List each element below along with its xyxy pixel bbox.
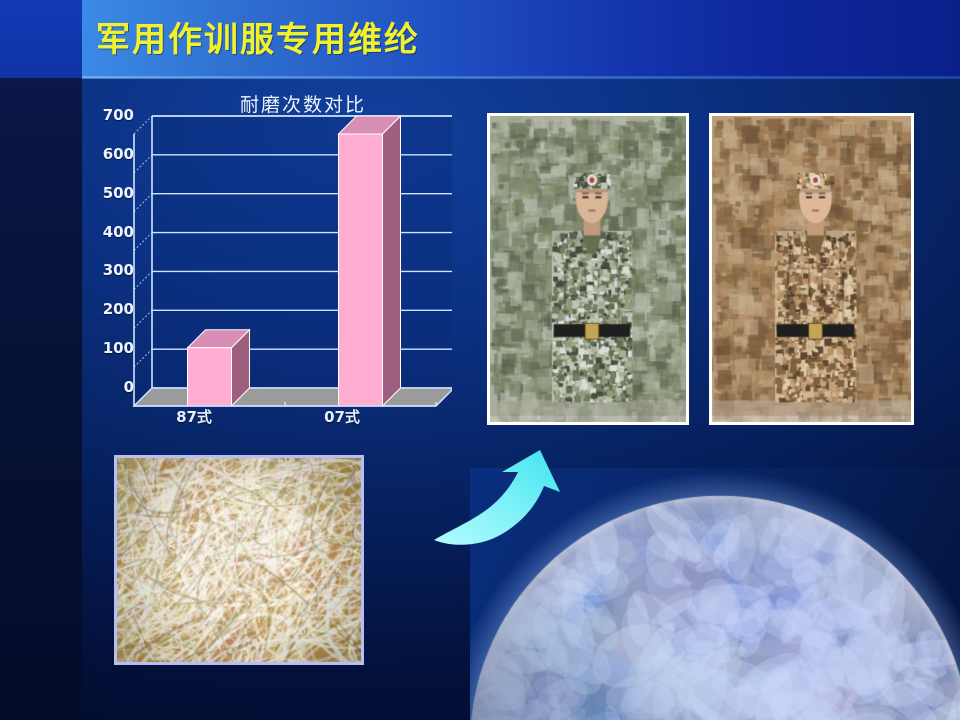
woodland-camo-canvas: [490, 116, 686, 422]
x-axis-label-1: 07式: [282, 406, 402, 427]
header-left-block: [0, 0, 82, 78]
y-tick-0: 0: [88, 378, 134, 396]
curved-up-arrow-icon: [428, 448, 578, 558]
slide-canvas: 军用作训服专用维纶 耐磨次数对比 0100200300400500600700 …: [0, 0, 960, 720]
y-axis-tick-labels: 0100200300400500600700: [92, 88, 134, 438]
chart-plot-area: [92, 88, 452, 438]
fiber-canvas: [117, 458, 361, 662]
slide-header-bar: 军用作训服专用维纶: [82, 0, 960, 78]
y-tick-300: 300: [88, 261, 134, 279]
arrow-shape: [434, 450, 560, 545]
left-accent-band: [0, 0, 82, 720]
y-tick-500: 500: [88, 184, 134, 202]
soldier-desert-camouflage-photo: [709, 113, 914, 425]
abrasion-chart: 耐磨次数对比 0100200300400500600700 87式 07式: [92, 88, 452, 438]
x-axis-label-0: 87式: [134, 406, 254, 427]
soldier-woodland-camouflage-photo: [487, 113, 689, 425]
header-underline: [82, 76, 960, 79]
y-tick-600: 600: [88, 145, 134, 163]
desert-camo-canvas: [712, 116, 911, 422]
y-tick-100: 100: [88, 339, 134, 357]
vinylon-fiber-photo: [114, 455, 364, 665]
page-title: 军用作训服专用维纶: [96, 12, 420, 61]
y-tick-700: 700: [88, 106, 134, 124]
y-tick-400: 400: [88, 223, 134, 241]
y-tick-200: 200: [88, 300, 134, 318]
